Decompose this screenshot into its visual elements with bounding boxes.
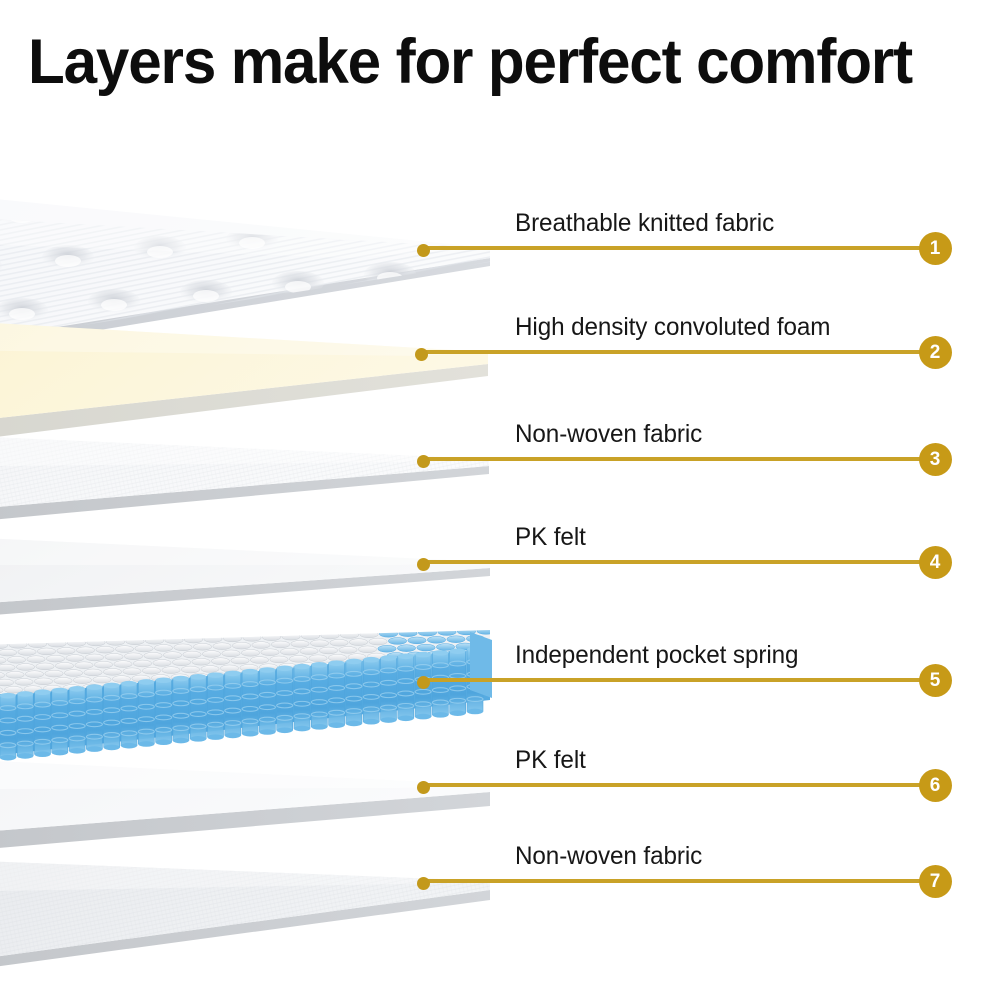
callout-number-badge-2[interactable]: 2 xyxy=(919,336,952,369)
infographic-canvas: Layers make for perfect comfort xyxy=(0,0,1000,1000)
layer-pk-felt-bottom xyxy=(0,742,490,882)
callout-leader-line xyxy=(423,246,922,250)
callout-anchor-dot xyxy=(415,348,428,361)
layer-pk-felt-top xyxy=(0,520,490,646)
callout-anchor-dot xyxy=(417,455,430,468)
callout-label-7: Non-woven fabric xyxy=(515,842,702,871)
callout-anchor-dot xyxy=(417,781,430,794)
callout-leader-line xyxy=(423,560,922,564)
callout-leader-line xyxy=(423,783,922,787)
callout-label-5: Independent pocket spring xyxy=(515,641,798,670)
callout-number-badge-6[interactable]: 6 xyxy=(919,769,952,802)
callout-anchor-dot xyxy=(417,676,430,689)
layer-non-woven-fabric-bottom xyxy=(0,846,490,1000)
callout-label-3: Non-woven fabric xyxy=(515,420,702,449)
mattress-layers-illustration xyxy=(0,0,1000,1000)
callout-label-4: PK felt xyxy=(515,523,586,552)
callout-leader-line xyxy=(421,350,922,354)
callout-number-badge-4[interactable]: 4 xyxy=(919,546,952,579)
callout-label-2: High density convoluted foam xyxy=(515,313,830,342)
callout-anchor-dot xyxy=(417,877,430,890)
callout-anchor-dot xyxy=(417,244,430,257)
callout-label-6: PK felt xyxy=(515,746,586,775)
callout-number-badge-5[interactable]: 5 xyxy=(919,664,952,697)
layer-non-woven-fabric-top xyxy=(0,420,489,556)
callout-number-badge-7[interactable]: 7 xyxy=(919,865,952,898)
callout-leader-line xyxy=(423,678,922,682)
callout-number-badge-3[interactable]: 3 xyxy=(919,443,952,476)
callout-leader-line xyxy=(423,457,922,461)
callout-number-badge-1[interactable]: 1 xyxy=(919,232,952,265)
callout-anchor-dot xyxy=(417,558,430,571)
callout-leader-line xyxy=(423,879,922,883)
callout-label-1: Breathable knitted fabric xyxy=(515,209,774,238)
